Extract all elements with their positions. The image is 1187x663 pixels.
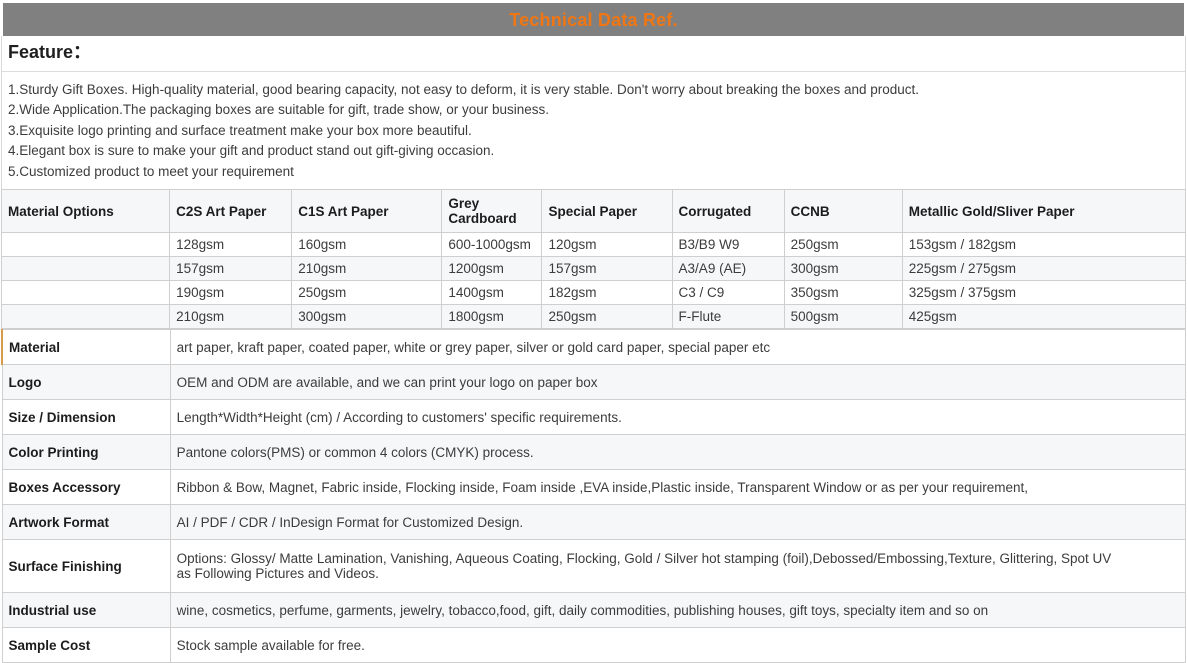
cell: C3 / C9 [672, 281, 784, 305]
cell: A3/A9 (AE) [672, 257, 784, 281]
column-header-corrugated: Corrugated [672, 190, 784, 233]
spec-value: Ribbon & Bow, Magnet, Fabric inside, Flo… [170, 470, 1185, 505]
spec-value: AI / PDF / CDR / InDesign Format for Cus… [170, 505, 1185, 540]
spec-row-boxes-accessory: Boxes Accessory Ribbon & Bow, Magnet, Fa… [2, 470, 1186, 505]
cell: 300gsm [292, 305, 442, 329]
cell: 500gsm [784, 305, 902, 329]
column-header-ccnb: CCNB [784, 190, 902, 233]
cell: 190gsm [170, 281, 292, 305]
table-row: 210gsm 300gsm 1800gsm 250gsm F-Flute 500… [2, 305, 1186, 329]
cell: 210gsm [292, 257, 442, 281]
column-header-c1s-art-paper: C1S Art Paper [292, 190, 442, 233]
cell: 350gsm [784, 281, 902, 305]
spec-row-industrial-use: Industrial use wine, cosmetics, perfume,… [2, 593, 1186, 628]
spec-row-surface-finishing: Surface Finishing Options: Glossy/ Matte… [2, 540, 1186, 593]
cell [2, 281, 170, 305]
cell: 160gsm [292, 233, 442, 257]
cell [2, 233, 170, 257]
column-header-grey-cardboard: Grey Cardboard [442, 190, 542, 233]
column-header-c2s-art-paper: C2S Art Paper [170, 190, 292, 233]
cell: 128gsm [170, 233, 292, 257]
table-row: 157gsm 210gsm 1200gsm 157gsm A3/A9 (AE) … [2, 257, 1186, 281]
spec-value: art paper, kraft paper, coated paper, wh… [170, 330, 1185, 365]
spec-label: Surface Finishing [2, 540, 170, 593]
spec-value: wine, cosmetics, perfume, garments, jewe… [170, 593, 1185, 628]
spec-row-size-dimension: Size / Dimension Length*Width*Height (cm… [2, 400, 1186, 435]
feature-line: 5.Customized product to meet your requir… [8, 162, 1179, 183]
spec-row-color-printing: Color Printing Pantone colors(PMS) or co… [2, 435, 1186, 470]
spec-label: Sample Cost [2, 628, 170, 663]
cell: 250gsm [542, 305, 672, 329]
spec-value-line: Options: Glossy/ Matte Lamination, Vanis… [177, 551, 1179, 566]
spec-value: Options: Glossy/ Matte Lamination, Vanis… [170, 540, 1185, 593]
spec-value: Pantone colors(PMS) or common 4 colors (… [170, 435, 1185, 470]
spec-value-line: as Following Pictures and Videos. [177, 566, 1179, 581]
cell: 250gsm [292, 281, 442, 305]
feature-section: Feature： 1.Sturdy Gift Boxes. High-quali… [1, 36, 1186, 189]
cell: 300gsm [784, 257, 902, 281]
spec-row-logo: Logo OEM and ODM are available, and we c… [2, 365, 1186, 400]
cell: 182gsm [542, 281, 672, 305]
spec-label: Size / Dimension [2, 400, 170, 435]
cell: 325gsm / 375gsm [902, 281, 1185, 305]
spec-value: Stock sample available for free. [170, 628, 1185, 663]
feature-line: 4.Elegant box is sure to make your gift … [8, 141, 1179, 162]
material-options-table: Material Options C2S Art Paper C1S Art P… [1, 189, 1186, 329]
spec-label: Logo [2, 365, 170, 400]
feature-line: 2.Wide Application.The packaging boxes a… [8, 100, 1179, 121]
technical-data-sheet: Technical Data Ref. Feature： 1.Sturdy Gi… [0, 3, 1187, 623]
column-header-special-paper: Special Paper [542, 190, 672, 233]
feature-line: 1.Sturdy Gift Boxes. High-quality materi… [8, 80, 1179, 101]
cell: 1400gsm [442, 281, 542, 305]
specifications-table: Material art paper, kraft paper, coated … [1, 329, 1186, 663]
cell: 225gsm / 275gsm [902, 257, 1185, 281]
column-header-material-options: Material Options [2, 190, 170, 233]
spec-row-sample-cost: Sample Cost Stock sample available for f… [2, 628, 1186, 663]
cell: 157gsm [170, 257, 292, 281]
cell: 1200gsm [442, 257, 542, 281]
cell: 600-1000gsm [442, 233, 542, 257]
cell: 210gsm [170, 305, 292, 329]
cell: 153gsm / 182gsm [902, 233, 1185, 257]
spec-row-artwork-format: Artwork Format AI / PDF / CDR / InDesign… [2, 505, 1186, 540]
cell [2, 257, 170, 281]
spec-label: Boxes Accessory [2, 470, 170, 505]
table-row: 128gsm 160gsm 600-1000gsm 120gsm B3/B9 W… [2, 233, 1186, 257]
spec-label: Industrial use [2, 593, 170, 628]
spec-label: Color Printing [2, 435, 170, 470]
cell: 250gsm [784, 233, 902, 257]
feature-list: 1.Sturdy Gift Boxes. High-quality materi… [2, 72, 1185, 190]
feature-heading-row: Feature： [2, 36, 1185, 72]
feature-line: 3.Exquisite logo printing and surface tr… [8, 121, 1179, 142]
cell: B3/B9 W9 [672, 233, 784, 257]
spec-value: OEM and ODM are available, and we can pr… [170, 365, 1185, 400]
spec-label: Material [2, 330, 170, 365]
page-title: Technical Data Ref. [509, 11, 678, 29]
spec-label: Artwork Format [2, 505, 170, 540]
table-row: 190gsm 250gsm 1400gsm 182gsm C3 / C9 350… [2, 281, 1186, 305]
spec-row-material: Material art paper, kraft paper, coated … [2, 330, 1186, 365]
cell: 425gsm [902, 305, 1185, 329]
cell: 157gsm [542, 257, 672, 281]
feature-heading: Feature： [8, 43, 1179, 63]
cell: 120gsm [542, 233, 672, 257]
spec-value: Length*Width*Height (cm) / According to … [170, 400, 1185, 435]
cell: F-Flute [672, 305, 784, 329]
table-header-row: Material Options C2S Art Paper C1S Art P… [2, 190, 1186, 233]
cell: 1800gsm [442, 305, 542, 329]
cell [2, 305, 170, 329]
column-header-metallic-paper: Metallic Gold/Sliver Paper [902, 190, 1185, 233]
title-banner: Technical Data Ref. [3, 3, 1184, 36]
